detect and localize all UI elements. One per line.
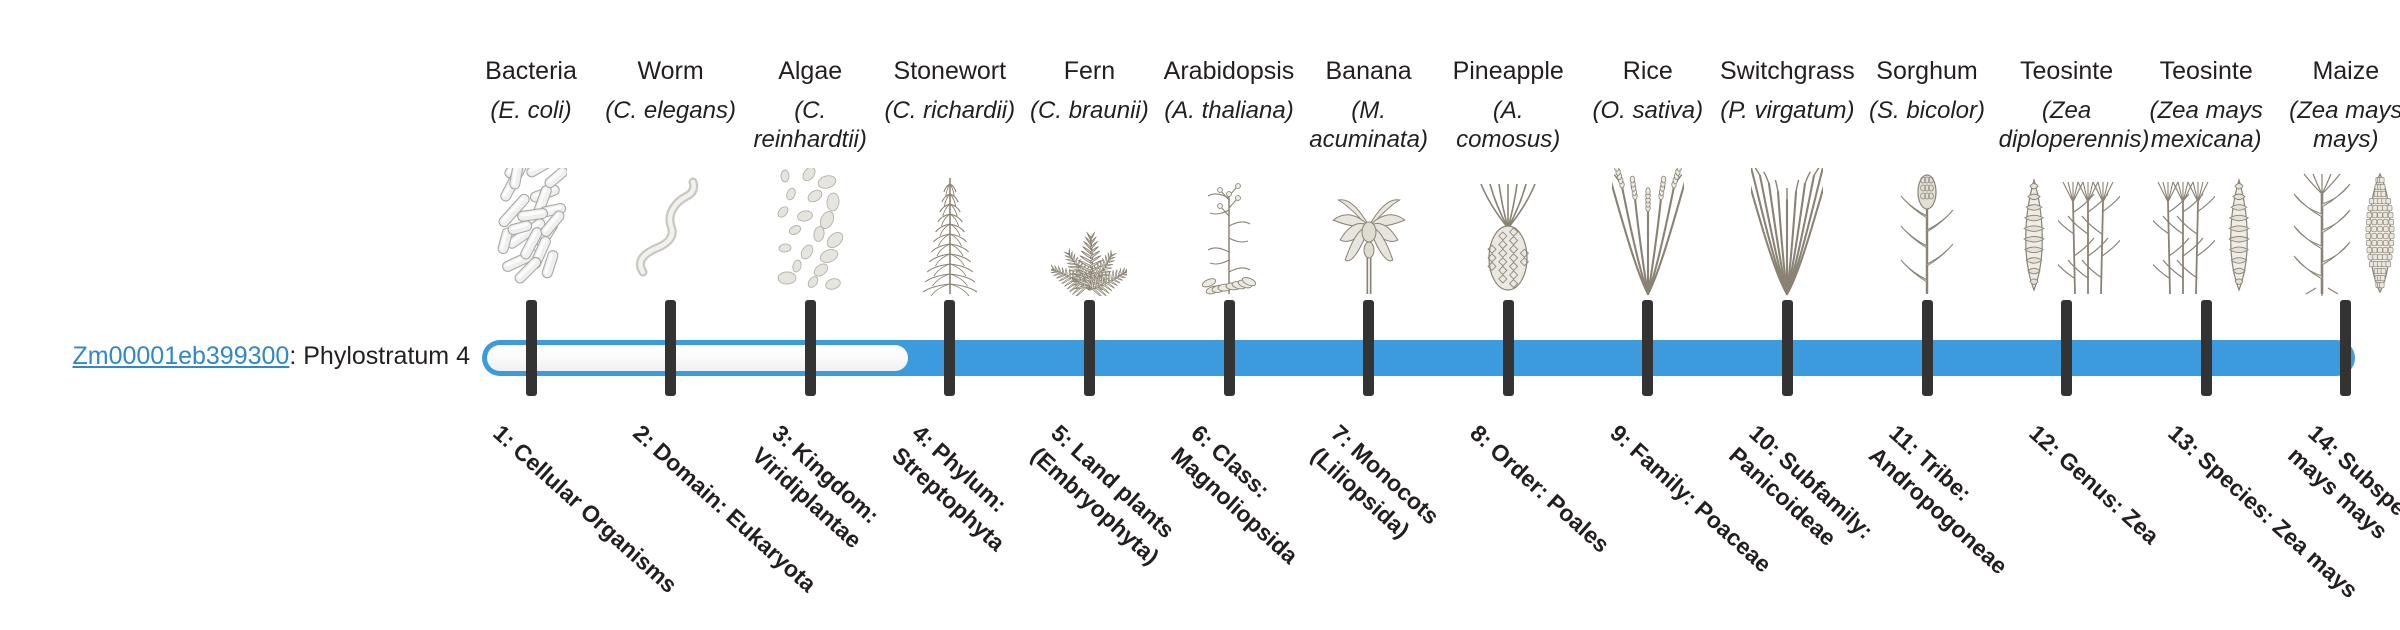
species-latin-name: (Zea mays mays)	[2278, 96, 2400, 154]
species-column-rice-9: Rice (O. sativa)	[1580, 56, 1716, 125]
species-column-teosinte-12: Teosinte (Zea diploperennis)	[1999, 56, 2135, 154]
species-column-fern-5: Fern (C. braunii)	[1021, 56, 1157, 125]
phylostratum-tick-3[interactable]	[805, 300, 816, 396]
bacteria-illustration	[463, 168, 599, 296]
species-column-bacteria-1: Bacteria (E. coli)	[463, 56, 599, 125]
switchgrass-illustration	[1719, 168, 1855, 296]
species-common-name: Rice	[1580, 56, 1716, 86]
species-latin-name: (Zea diploperennis)	[1999, 96, 2135, 154]
species-common-name: Teosinte	[1999, 56, 2135, 86]
phylostratum-tick-10[interactable]	[1782, 300, 1793, 396]
sorghum-illustration	[1859, 168, 1995, 296]
maize-illustration	[2278, 168, 2400, 296]
phylostratum-tick-4[interactable]	[944, 300, 955, 396]
phylostratum-progress-unfilled	[487, 345, 908, 371]
species-column-switchgrass-10: Switchgrass (P. virgatum)	[1719, 56, 1855, 125]
phylostratum-chart: Zm00001eb399300: Phylostratum 4 Bacteria…	[0, 0, 2400, 580]
species-column-banana-7: Banana (M. acuminata)	[1301, 56, 1437, 154]
species-latin-name: (O. sativa)	[1580, 96, 1716, 125]
species-common-name: Teosinte	[2138, 56, 2274, 86]
pineapple-illustration	[1440, 168, 1576, 296]
species-column-maize-14: Maize (Zea mays mays)	[2278, 56, 2400, 154]
phylostratum-tick-2[interactable]	[665, 300, 676, 396]
species-common-name: Bacteria	[463, 56, 599, 86]
species-latin-name: (M. acuminata)	[1301, 96, 1437, 154]
phylostratum-tick-8[interactable]	[1503, 300, 1514, 396]
species-common-name: Stonewort	[882, 56, 1018, 86]
species-common-name: Banana	[1301, 56, 1437, 86]
species-latin-name: (P. virgatum)	[1719, 96, 1855, 125]
species-latin-name: (E. coli)	[463, 96, 599, 125]
species-column-sorghum-11: Sorghum (S. bicolor)	[1859, 56, 1995, 125]
species-common-name: Maize	[2278, 56, 2400, 86]
gene-id-link[interactable]: Zm00001eb399300	[72, 342, 289, 370]
phylostratum-tick-5[interactable]	[1084, 300, 1095, 396]
phylostratum-text: Phylostratum 4	[303, 342, 470, 370]
species-latin-name: (A. thaliana)	[1161, 96, 1297, 125]
species-common-name: Pineapple	[1440, 56, 1576, 86]
species-latin-name: (C. richardii)	[882, 96, 1018, 125]
species-column-teosinte-13: Teosinte (Zea mays mexicana)	[2138, 56, 2274, 154]
species-common-name: Fern	[1021, 56, 1157, 86]
species-common-name: Switchgrass	[1719, 56, 1855, 86]
phylostratum-tick-11[interactable]	[1922, 300, 1933, 396]
species-latin-name: (A. comosus)	[1440, 96, 1576, 154]
arabidopsis-illustration	[1161, 168, 1297, 296]
species-latin-name: (C. braunii)	[1021, 96, 1157, 125]
species-latin-name: (Zea mays mexicana)	[2138, 96, 2274, 154]
phylostratum-tick-14[interactable]	[2340, 300, 2351, 396]
gene-phylostratum-label: Zm00001eb399300: Phylostratum 4	[0, 341, 470, 371]
species-column-pineapple-8: Pineapple (A. comosus)	[1440, 56, 1576, 154]
species-common-name: Arabidopsis	[1161, 56, 1297, 86]
phylostratum-tick-6[interactable]	[1224, 300, 1235, 396]
rice-plant-illustration	[1580, 168, 1716, 296]
algae-cells-illustration	[742, 168, 878, 296]
species-column-worm-2: Worm (C. elegans)	[603, 56, 739, 125]
fern-illustration	[1021, 168, 1157, 296]
phylostratum-tick-13[interactable]	[2201, 300, 2212, 396]
species-common-name: Sorghum	[1859, 56, 1995, 86]
species-common-name: Worm	[603, 56, 739, 86]
stonewort-illustration	[882, 168, 1018, 296]
species-column-arabidopsis-6: Arabidopsis (A. thaliana)	[1161, 56, 1297, 125]
teosinte-mexicana-illustration	[2138, 168, 2274, 296]
species-column-algae-3: Algae (C. reinhardtii)	[742, 56, 878, 154]
species-latin-name: (C. elegans)	[603, 96, 739, 125]
gene-label-separator: :	[289, 342, 303, 370]
phylostratum-tick-12[interactable]	[2061, 300, 2072, 396]
phylostratum-tick-9[interactable]	[1642, 300, 1653, 396]
banana-plant-illustration	[1301, 168, 1437, 296]
phylostratum-tick-1[interactable]	[526, 300, 537, 396]
nematode-illustration	[603, 168, 739, 296]
species-latin-name: (S. bicolor)	[1859, 96, 1995, 125]
species-latin-name: (C. reinhardtii)	[742, 96, 878, 154]
species-column-stonewort-4: Stonewort (C. richardii)	[882, 56, 1018, 125]
phylostratum-tick-7[interactable]	[1363, 300, 1374, 396]
species-common-name: Algae	[742, 56, 878, 86]
teosinte-diploperennis-illustration	[1999, 168, 2135, 296]
